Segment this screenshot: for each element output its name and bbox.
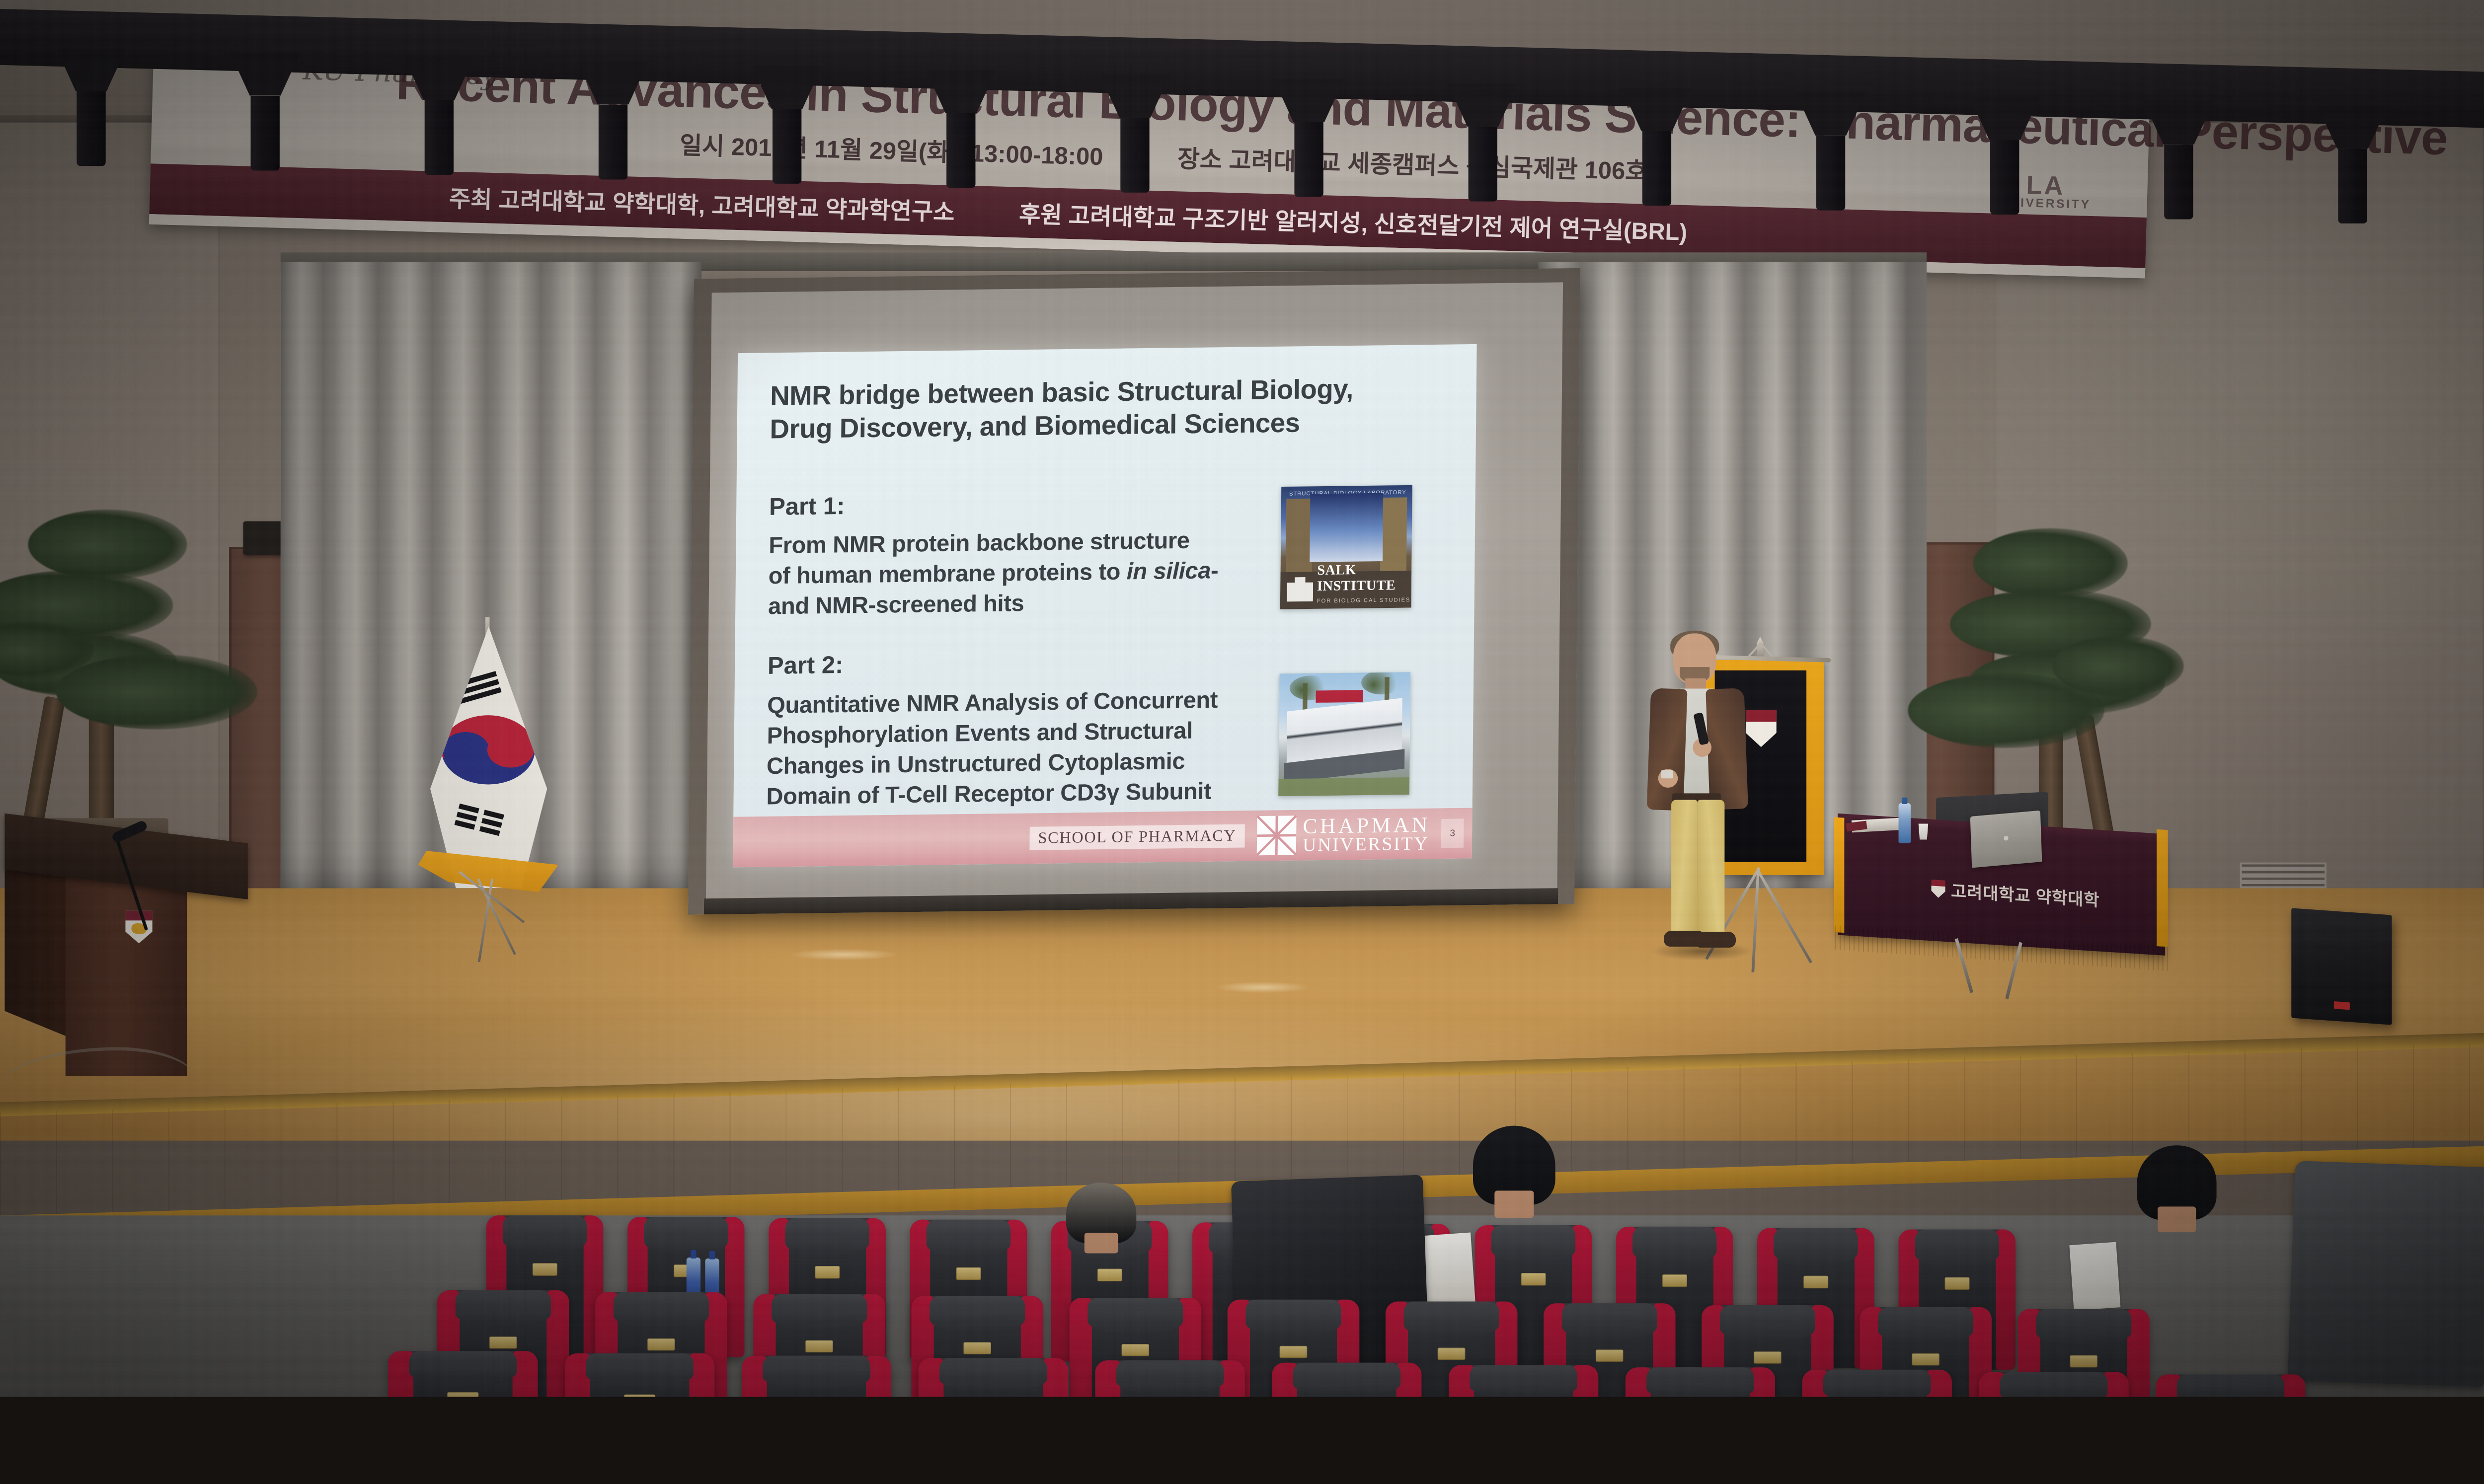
seat-number-plate — [1912, 1353, 1940, 1366]
attendee-right-dark — [2137, 1145, 2217, 1220]
stage-light-11 — [1795, 92, 1865, 210]
seat-headrest — [1491, 1225, 1575, 1261]
attendee-neck — [1494, 1191, 1534, 1218]
stage-light-4 — [578, 62, 648, 179]
seat-headrest — [503, 1215, 587, 1252]
stage-light-1 — [56, 48, 126, 166]
lecture-hall-photo: KU-Pharmacy Recent Advances in Structura… — [0, 0, 2484, 1397]
stage-light-13 — [2144, 101, 2214, 219]
chapman-wordmark: CHAPMAN UNIVERSITY — [1303, 815, 1430, 854]
auditorium-seat[interactable] — [1979, 1372, 2128, 1397]
attendee-front-gray — [1066, 1183, 1136, 1243]
presenter-laptop — [1970, 811, 2042, 868]
stage-light-9 — [1448, 83, 1518, 201]
seat-number-plate — [1662, 1274, 1687, 1287]
seat-headrest — [772, 1294, 867, 1329]
banner-place-label: 장소 — [1177, 146, 1223, 174]
seat-headrest — [2036, 1309, 2131, 1344]
taegukgi-cloth — [430, 626, 547, 888]
auditorium-seat[interactable] — [2156, 1374, 2305, 1397]
south-korea-flag — [402, 617, 580, 963]
chapman-window-icon — [1257, 816, 1297, 855]
slide-part1-line2a: of human membrane proteins to — [769, 558, 1127, 589]
banner-host-label: 주최 — [449, 186, 492, 213]
auditorium-seat[interactable] — [1626, 1367, 1775, 1397]
seat-headrest — [2000, 1372, 2108, 1397]
slide-part1-line3: and NMR-screened hits — [768, 586, 1236, 622]
banner-date-label: 일시 — [679, 132, 725, 160]
slide-page-number: 3 — [1441, 818, 1464, 848]
attendee-neck — [1085, 1233, 1118, 1254]
slide-part1-italic: in silica — [1127, 557, 1211, 585]
seat-number-plate — [1754, 1351, 1782, 1364]
bonsai-pine-left — [0, 496, 262, 851]
footer-school-label: SCHOOL OF PHARMACY — [1029, 824, 1244, 850]
slide-part1-body: From NMR protein backbone structure of h… — [768, 524, 1237, 621]
stage-light-3 — [404, 57, 474, 175]
attendee-handout-1 — [1419, 1233, 1475, 1306]
seat-headrest — [409, 1351, 517, 1383]
floor-light-reflection-2 — [1216, 982, 1309, 993]
taeguk-symbol-icon — [442, 715, 535, 784]
chapman-building-sign — [1316, 690, 1363, 703]
auditorium-seat[interactable] — [1802, 1370, 1952, 1397]
seat-headrest — [930, 1296, 1025, 1331]
stage-light-7 — [1100, 75, 1170, 193]
seat-number-plate — [956, 1267, 981, 1280]
presenter-jacket-left — [1647, 688, 1688, 811]
slide-title: NMR bridge between basic Structural Biol… — [770, 372, 1378, 446]
coat-on-seat — [2288, 1161, 2484, 1387]
korea-university-shield-icon — [1931, 880, 1945, 898]
table-fringe-right — [2157, 829, 2168, 947]
seat-headrest — [614, 1292, 708, 1328]
floor-light-reflection-1 — [790, 949, 898, 961]
seat-number-plate — [1803, 1276, 1828, 1288]
presenter-jacket-right — [1706, 688, 1748, 810]
seat-headrest — [1246, 1300, 1341, 1335]
seat-number-plate — [2070, 1355, 2097, 1367]
salk-institute-logo: STRUCTURAL BIOLOGY LABORATORY SALK INSTI… — [1280, 485, 1412, 609]
seat-headrest — [1823, 1370, 1931, 1397]
seat-number-plate — [805, 1340, 833, 1352]
auditorium-seat[interactable] — [1449, 1365, 1598, 1397]
slide-part1-line1: From NMR protein backbone structure — [769, 524, 1237, 561]
chapman-wordmark-line2: UNIVERSITY — [1303, 835, 1430, 854]
seat-number-plate — [1438, 1347, 1466, 1360]
speaker-brand-badge-icon — [2333, 1001, 2349, 1010]
seat-number-plate — [489, 1336, 517, 1349]
slide-part1-line2b: - — [1211, 557, 1219, 584]
chapman-building-photo — [1278, 672, 1410, 796]
seat-headrest — [1293, 1363, 1400, 1395]
salk-pillar-left — [1286, 499, 1313, 577]
seat-headrest — [586, 1353, 694, 1385]
seat-headrest — [1562, 1303, 1657, 1338]
pa-loudspeaker — [2291, 908, 2392, 1025]
slide-part1-label: Part 1: — [769, 492, 845, 521]
auditorium-seat[interactable] — [742, 1356, 891, 1397]
seat-number-plate — [647, 1338, 675, 1350]
presenter-shoe-right — [1697, 932, 1736, 948]
slide-part2-line4: Domain of T-Cell Receptor CD3γ Subunit — [766, 776, 1243, 812]
attendee-neck — [2158, 1207, 2196, 1232]
salk-logo-subtitle: FOR BIOLOGICAL STUDIES — [1317, 596, 1411, 603]
seat-headrest — [2176, 1374, 2284, 1397]
seat-number-plate — [447, 1392, 478, 1397]
stage-light-8 — [1274, 79, 1344, 197]
seat-headrest — [939, 1358, 1047, 1390]
seat-headrest — [785, 1218, 869, 1255]
seat-headrest — [644, 1217, 728, 1253]
stage-light-12 — [1970, 97, 2040, 215]
seat-headrest — [1878, 1307, 1973, 1342]
slide-footer: SCHOOL OF PHARMACY CHAPMAN UNIVERSITY 3 — [733, 808, 1472, 868]
seat-headrest — [1774, 1228, 1858, 1264]
seat-headrest — [1632, 1227, 1716, 1263]
presentation-clicker-icon — [1661, 770, 1673, 778]
stage-light-6 — [926, 71, 996, 188]
seat-number-plate — [963, 1342, 991, 1354]
stage-light-2 — [230, 53, 300, 170]
chapman-lawn — [1278, 777, 1409, 796]
seat-headrest — [763, 1356, 870, 1388]
slide-title-line2: Drug Discovery, and Biomedical Sciences — [770, 405, 1378, 446]
slide-part2-label: Part 2: — [768, 651, 844, 680]
auditorium-seat[interactable] — [565, 1353, 714, 1397]
trigram-gon-icon — [455, 804, 504, 836]
lectern — [4, 814, 247, 1075]
seat-number-plate — [1596, 1349, 1624, 1362]
seat-headrest — [1116, 1360, 1224, 1392]
attendee-center-dark — [1473, 1126, 1555, 1205]
seat-headrest — [1915, 1230, 1999, 1266]
seat-headrest — [1088, 1298, 1183, 1333]
seat-headrest — [456, 1290, 550, 1326]
seat-headrest — [927, 1220, 1010, 1256]
seat-number-plate — [533, 1263, 557, 1275]
table-water-bottle — [1899, 803, 1911, 843]
banner-sponsor-label: 후원 — [1018, 201, 1062, 228]
attendee-handout-2 — [2069, 1242, 2120, 1311]
presenter — [1636, 633, 1758, 951]
seat-number-plate — [1944, 1277, 1969, 1290]
trigram-geon-icon — [452, 671, 502, 705]
seat-number-plate — [815, 1266, 839, 1278]
seat-number-plate — [1122, 1344, 1150, 1356]
stage-light-14 — [2318, 106, 2388, 223]
seat-headrest — [1646, 1367, 1754, 1397]
auditorium-seat[interactable] — [1272, 1363, 1421, 1397]
auditorium-seat[interactable] — [1095, 1360, 1244, 1397]
palm-frond-2 — [1361, 672, 1402, 694]
seat-number-plate — [624, 1395, 655, 1397]
presentation-slide: NMR bridge between basic Structural Biol… — [733, 344, 1476, 868]
auditorium-seat[interactable] — [388, 1351, 538, 1397]
slide-part2-body: Quantitative NMR Analysis of Concurrent … — [766, 684, 1244, 812]
stage-light-10 — [1622, 88, 1692, 206]
salk-sky — [1310, 493, 1384, 562]
presenter-leg-right — [1698, 800, 1725, 937]
seat-headrest — [1470, 1365, 1577, 1397]
stage-light-5 — [752, 66, 822, 184]
seat-number-plate — [1097, 1269, 1122, 1281]
seat-headrest — [1404, 1301, 1499, 1336]
salk-logo-name: SALK INSTITUTE — [1317, 561, 1411, 594]
slide-part1-line2: of human membrane proteins to in silica- — [768, 555, 1236, 592]
seat-number-plate — [1521, 1273, 1546, 1285]
chapman-university-lockup: CHAPMAN UNIVERSITY — [1257, 814, 1430, 855]
projection-screen: NMR bridge between basic Structural Biol… — [688, 268, 1580, 915]
seat-number-plate — [1280, 1346, 1308, 1358]
presenter-leg-left — [1671, 800, 1698, 936]
auditorium-seat[interactable] — [919, 1358, 1068, 1397]
seat-headrest — [1720, 1305, 1815, 1340]
